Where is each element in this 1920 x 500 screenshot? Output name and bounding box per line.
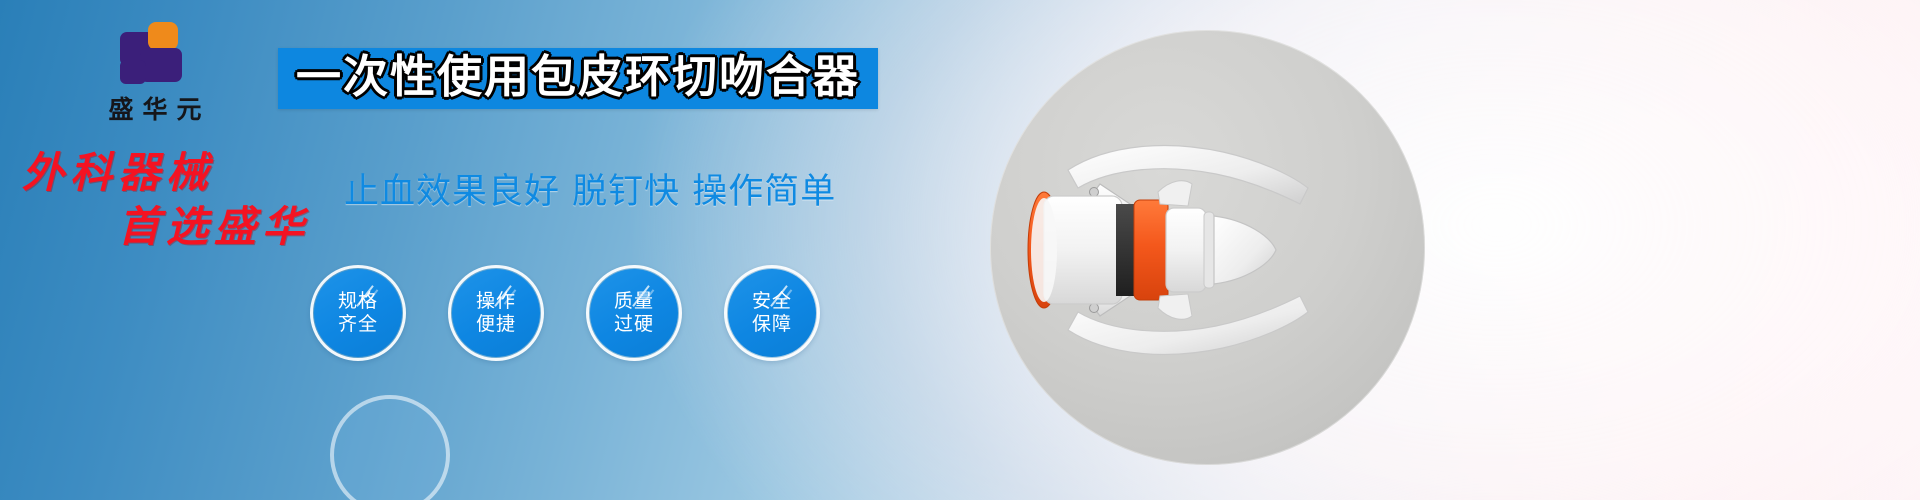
decor-circle-outline [330, 395, 450, 500]
feature-label-line1: 安全 [752, 290, 792, 313]
subtitle: 止血效果良好 脱钉快 操作简单 [344, 163, 836, 214]
feature-label-line1: 质量 [614, 290, 654, 313]
feature-label-line2: 过硬 [614, 313, 654, 336]
feature-circle-quality[interactable]: 质量 过硬 [586, 265, 682, 361]
feature-label-line2: 齐全 [338, 313, 378, 336]
circle-body: 规格 齐全 [314, 269, 402, 357]
product-image [990, 30, 1440, 470]
feature-label-line1: 规格 [338, 290, 378, 313]
feature-label-line2: 保障 [752, 313, 792, 336]
headline-band: 一次性使用包皮环切吻合器 [278, 48, 878, 109]
page-title: 一次性使用包皮环切吻合器 [296, 54, 860, 99]
slogan-calligraphy: 外科器械 首选盛华 [22, 152, 310, 248]
slogan-line-2: 首选盛华 [118, 206, 310, 248]
brand-name: 盛华元 [60, 90, 250, 126]
feature-circle-operation[interactable]: 操作 便捷 [448, 265, 544, 361]
shenghuayuan-blocks-logo-icon [120, 22, 190, 84]
circle-body: 安全 保障 [728, 269, 816, 357]
feature-label-line1: 操作 [476, 290, 516, 313]
circle-body: 操作 便捷 [452, 269, 540, 357]
feature-circle-specifications[interactable]: 规格 齐全 [310, 265, 406, 361]
slogan-line-1: 外科器械 [22, 152, 310, 194]
feature-label-line2: 便捷 [476, 313, 516, 336]
circumcision-stapler-illustration [1008, 100, 1408, 400]
feature-circle-safety[interactable]: 安全 保障 [724, 265, 820, 361]
circle-body: 质量 过硬 [590, 269, 678, 357]
feature-circle-list: 规格 齐全 操作 便捷 质量 过硬 安全 保障 [310, 265, 820, 361]
brand-logo: 盛华元 [60, 22, 250, 126]
